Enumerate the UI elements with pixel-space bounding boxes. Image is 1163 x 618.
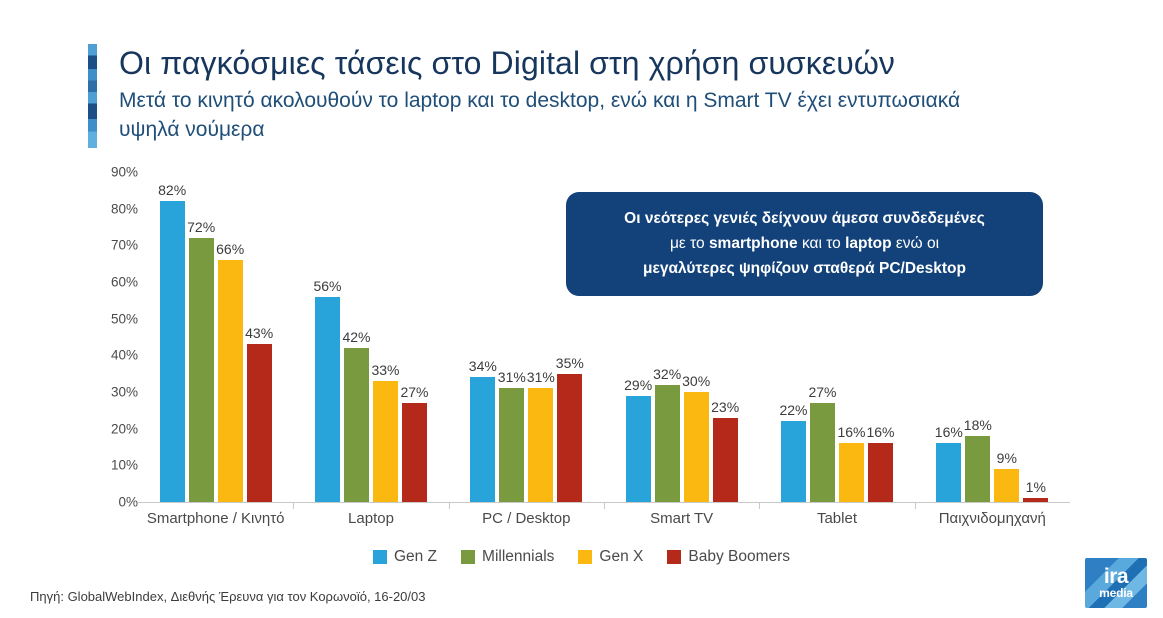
bar-gen-x[interactable] — [218, 260, 243, 502]
bar-value-label: 82% — [158, 182, 186, 198]
x-axis-category-label: Smartphone / Κινητό — [138, 510, 293, 527]
bar-group: 56%42%33%27% — [293, 172, 448, 502]
y-axis-tick-label: 80% — [92, 201, 138, 216]
bar-millennials[interactable] — [965, 436, 990, 502]
y-axis: 90%80%70%60%50%40%30%20%10%0% — [92, 172, 138, 512]
bar-gen-z[interactable] — [936, 443, 961, 502]
callout-line-1-text: Οι νεότερες γενιές δείχνουν άμεσα συνδεδ… — [624, 210, 985, 227]
bar-value-label: 27% — [400, 384, 428, 400]
bar-value-label: 16% — [837, 424, 865, 440]
bar-column[interactable]: 42% — [344, 172, 369, 502]
callout-line-2-suffix: ενώ οι — [892, 235, 939, 252]
bar-baby-boomers[interactable] — [402, 403, 427, 502]
bar-millennials[interactable] — [344, 348, 369, 502]
header-text-block: Οι παγκόσμιες τάσεις στο Digital στη χρή… — [119, 44, 1048, 144]
bar-value-label: 23% — [711, 399, 739, 415]
bar-column[interactable]: 31% — [528, 172, 553, 502]
bar-column[interactable]: 43% — [247, 172, 272, 502]
bar-baby-boomers[interactable] — [557, 374, 582, 502]
bar-value-label: 1% — [1026, 479, 1046, 495]
bar-column[interactable]: 56% — [315, 172, 340, 502]
legend-swatch-icon — [578, 550, 592, 564]
bar-gen-x[interactable] — [528, 388, 553, 502]
y-axis-tick-label: 60% — [92, 275, 138, 290]
callout-line-1: Οι νεότερες γενιές δείχνουν άμεσα συνδεδ… — [584, 206, 1025, 231]
callout-line-2-prefix: με το — [670, 235, 709, 252]
x-axis-category-label: PC / Desktop — [449, 510, 604, 527]
bar-column[interactable]: 72% — [189, 172, 214, 502]
bar-column[interactable]: 82% — [160, 172, 185, 502]
x-axis-category-label: Tablet — [759, 510, 914, 527]
y-axis-tick-label: 40% — [92, 348, 138, 363]
bar-value-label: 31% — [498, 369, 526, 385]
legend-label: Millennials — [482, 548, 554, 566]
bar-value-label: 22% — [779, 402, 807, 418]
legend-label: Baby Boomers — [688, 548, 790, 566]
page-subtitle: Μετά το κινητό ακολουθούν το laptop και … — [119, 86, 999, 144]
bar-millennials[interactable] — [499, 388, 524, 502]
bar-column[interactable]: 34% — [470, 172, 495, 502]
bar-column[interactable]: 66% — [218, 172, 243, 502]
bar-value-label: 56% — [313, 278, 341, 294]
bar-gen-z[interactable] — [160, 201, 185, 502]
bar-group-bars: 82%72%66%43% — [160, 172, 272, 502]
bar-value-label: 72% — [187, 219, 215, 235]
bar-value-label: 31% — [527, 369, 555, 385]
title-accent-bar — [88, 44, 97, 148]
x-axis-category-label: Laptop — [293, 510, 448, 527]
x-axis-category-label: Παιχνιδομηχανή — [915, 510, 1070, 527]
bar-gen-x[interactable] — [994, 469, 1019, 502]
y-axis-tick-label: 70% — [92, 238, 138, 253]
legend-item-baby-boomers[interactable]: Baby Boomers — [667, 548, 790, 566]
bar-baby-boomers[interactable] — [868, 443, 893, 502]
x-axis-category-label: Smart TV — [604, 510, 759, 527]
legend-label: Gen X — [599, 548, 643, 566]
bar-column[interactable]: 31% — [499, 172, 524, 502]
y-axis-tick-label: 10% — [92, 458, 138, 473]
ira-media-logo: ira media — [1085, 558, 1147, 608]
bar-millennials[interactable] — [810, 403, 835, 502]
page-title: Οι παγκόσμιες τάσεις στο Digital στη χρή… — [119, 44, 1048, 82]
legend-label: Gen Z — [394, 548, 437, 566]
bar-baby-boomers[interactable] — [247, 344, 272, 502]
bar-value-label: 30% — [682, 373, 710, 389]
bar-value-label: 16% — [866, 424, 894, 440]
legend-item-millennials[interactable]: Millennials — [461, 548, 554, 566]
bar-group-bars: 56%42%33%27% — [315, 172, 427, 502]
bar-gen-z[interactable] — [626, 396, 651, 502]
bar-value-label: 43% — [245, 325, 273, 341]
callout-box: Οι νεότερες γενιές δείχνουν άμεσα συνδεδ… — [566, 192, 1043, 296]
source-note: Πηγή: GlobalWebIndex, Διεθνής Έρευνα για… — [30, 589, 425, 604]
legend-swatch-icon — [667, 550, 681, 564]
legend-item-gen-x[interactable]: Gen X — [578, 548, 643, 566]
bar-millennials[interactable] — [189, 238, 214, 502]
y-axis-tick-label: 0% — [92, 495, 138, 510]
bar-gen-z[interactable] — [470, 377, 495, 502]
bar-value-label: 27% — [808, 384, 836, 400]
y-axis-tick-label: 20% — [92, 421, 138, 436]
callout-line-3: μεγαλύτερες ψηφίζουν σταθερά PC/Desktop — [584, 256, 1025, 281]
callout-keyword-laptop: laptop — [845, 235, 892, 252]
legend-swatch-icon — [373, 550, 387, 564]
bar-gen-z[interactable] — [781, 421, 806, 502]
bar-value-label: 16% — [935, 424, 963, 440]
bar-millennials[interactable] — [655, 385, 680, 502]
bar-value-label: 42% — [342, 329, 370, 345]
bar-column[interactable]: 33% — [373, 172, 398, 502]
bar-value-label: 66% — [216, 241, 244, 257]
bar-gen-z[interactable] — [315, 297, 340, 502]
callout-keyword-smartphone: smartphone — [709, 235, 798, 252]
logo-subtext: media — [1099, 586, 1133, 600]
y-axis-tick-label: 90% — [92, 165, 138, 180]
bar-value-label: 33% — [371, 362, 399, 378]
y-axis-tick-label: 50% — [92, 311, 138, 326]
bar-baby-boomers[interactable] — [713, 418, 738, 502]
bar-value-label: 29% — [624, 377, 652, 393]
bar-baby-boomers[interactable] — [1023, 498, 1048, 502]
bar-value-label: 18% — [964, 417, 992, 433]
legend-swatch-icon — [461, 550, 475, 564]
bar-column[interactable]: 27% — [402, 172, 427, 502]
callout-line-2: με το smartphone και το laptop ενώ οι — [584, 231, 1025, 256]
callout-line-2-mid: και το — [798, 235, 845, 252]
y-axis-tick-label: 30% — [92, 385, 138, 400]
bar-value-label: 34% — [469, 358, 497, 374]
chart-legend: Gen ZMillennialsGen XBaby Boomers — [0, 548, 1163, 566]
bar-group: 82%72%66%43% — [138, 172, 293, 502]
legend-item-gen-z[interactable]: Gen Z — [373, 548, 437, 566]
bar-gen-x[interactable] — [684, 392, 709, 502]
bar-gen-x[interactable] — [839, 443, 864, 502]
chart-header: Οι παγκόσμιες τάσεις στο Digital στη χρή… — [88, 44, 1048, 148]
bar-value-label: 35% — [556, 355, 584, 371]
logo-wordmark: ira — [1104, 567, 1128, 586]
x-axis-category-labels: Smartphone / ΚινητόLaptopPC / DesktopSma… — [138, 510, 1070, 527]
callout-line-3-text: μεγαλύτερες ψηφίζουν σταθερά PC/Desktop — [643, 260, 966, 277]
bar-value-label: 32% — [653, 366, 681, 382]
bar-value-label: 9% — [997, 450, 1017, 466]
bar-gen-x[interactable] — [373, 381, 398, 502]
logo-inner: ira media — [1085, 558, 1147, 608]
